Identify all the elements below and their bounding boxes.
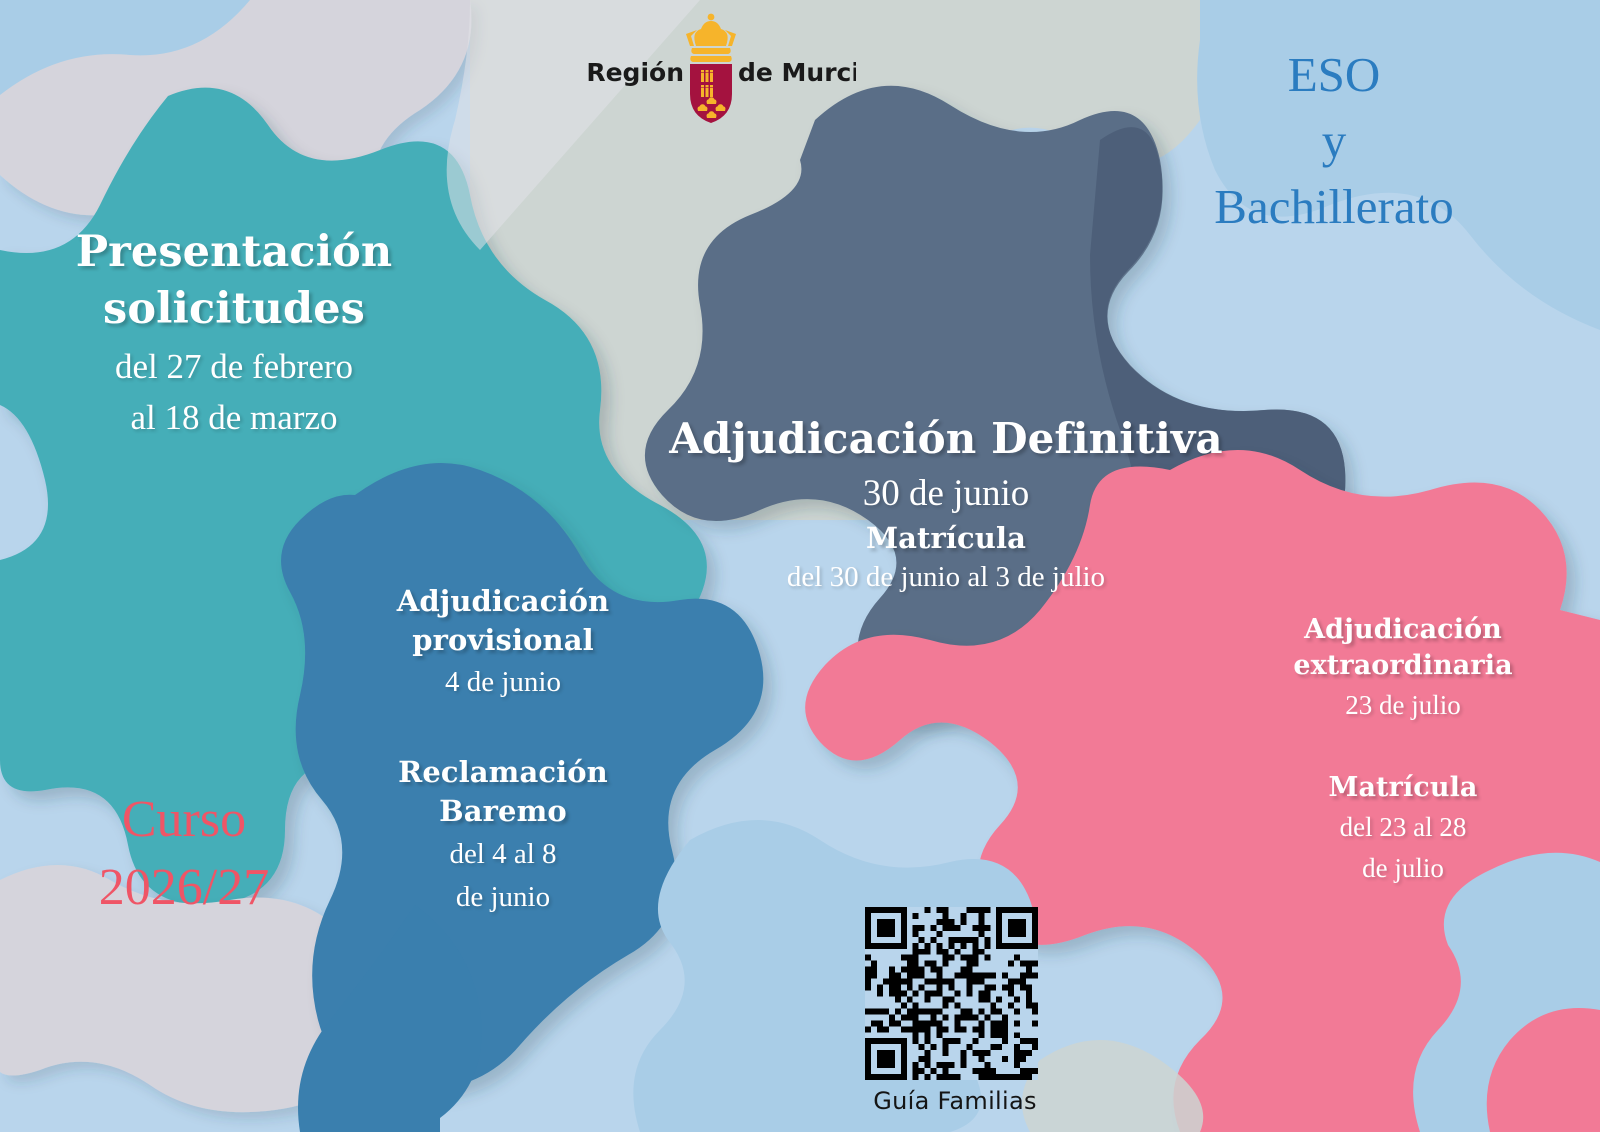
qr-label: Guía Familias — [865, 1087, 1045, 1115]
course-label-word: Curso — [44, 786, 324, 854]
stage-adjudicacion-provisional: Adjudicación provisional 4 de junio — [358, 582, 648, 699]
audience-line-y: y — [1104, 108, 1564, 174]
audience-line-bachillerato: Bachillerato — [1104, 174, 1564, 240]
matricula-title: Matrícula — [1253, 772, 1553, 804]
stage-title-line: Reclamación — [358, 753, 648, 792]
region-de-murcia-logo-icon: Región de Murcia — [566, 8, 856, 126]
qr-block[interactable]: Guía Familias — [865, 907, 1045, 1115]
stage-date-line: del 4 al 8 — [358, 836, 648, 873]
stage-presentacion-solicitudes: Presentación solicitudes del 27 de febre… — [34, 224, 434, 441]
stage-title-line: Presentación — [34, 224, 434, 281]
stage-date-line: del 27 de febrero — [34, 345, 434, 390]
matricula-date-line: del 23 al 28 — [1253, 810, 1553, 845]
matricula-date-line: de julio — [1253, 851, 1553, 886]
stage-title-line: extraordinaria — [1253, 648, 1553, 684]
stage-title-line: provisional — [358, 621, 648, 660]
logo-text-region: Región — [586, 58, 684, 87]
stage-title-line: Baremo — [358, 792, 648, 831]
qr-code-icon[interactable] — [865, 907, 1038, 1080]
audience-heading: ESO y Bachillerato — [1104, 42, 1564, 240]
stage-date-line: 23 de julio — [1253, 690, 1553, 722]
stage-title-line: Adjudicación — [358, 582, 648, 621]
matricula-title: Matrícula — [636, 521, 1256, 555]
stage-reclamacion-baremo: Reclamación Baremo del 4 al 8 de junio — [358, 753, 648, 916]
stage-title-line: solicitudes — [34, 281, 434, 338]
stage-title-line: Adjudicación — [1253, 612, 1553, 648]
course-label: Curso 2026/27 — [44, 786, 324, 921]
stage-title: Adjudicación Definitiva — [636, 414, 1256, 464]
stage-date-line: al 18 de marzo — [34, 396, 434, 441]
stage-matricula-julio: Matrícula del 23 al 28 de julio — [1253, 772, 1553, 886]
stage-date: 30 de junio — [636, 472, 1256, 516]
audience-line-eso: ESO — [1104, 42, 1564, 108]
stage-adjudicacion-definitiva: Adjudicación Definitiva 30 de junio Matr… — [636, 414, 1256, 595]
course-label-years: 2026/27 — [44, 854, 324, 922]
stage-date-line: de junio — [358, 879, 648, 916]
region-de-murcia-logo: Región de Murcia — [566, 8, 856, 126]
stage-adjudicacion-extraordinaria: Adjudicación extraordinaria 23 de julio — [1253, 612, 1553, 722]
stage-date-line: 4 de junio — [358, 665, 648, 699]
matricula-date: del 30 de junio al 3 de julio — [636, 560, 1256, 594]
poster-canvas: Región de Murcia ESO y Bachillerato Pres… — [0, 0, 1600, 1132]
logo-text-de-murcia: de Murcia — [738, 58, 856, 87]
crown-icon — [686, 14, 736, 62]
